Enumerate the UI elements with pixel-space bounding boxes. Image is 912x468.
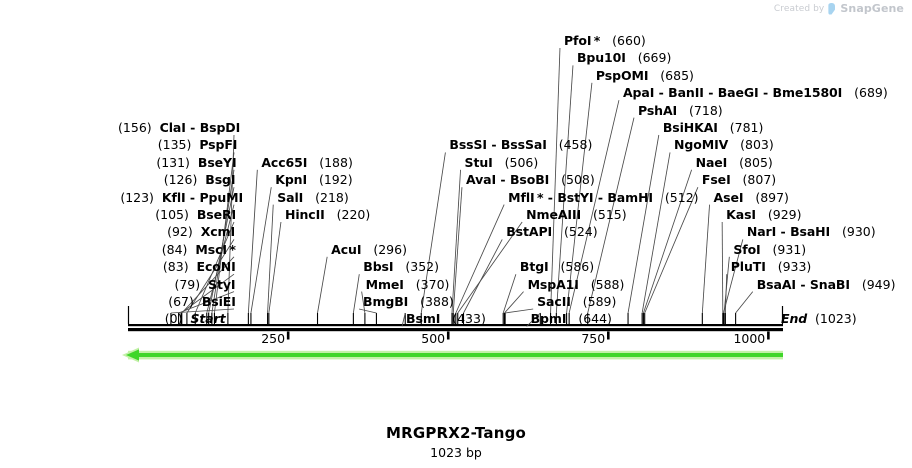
restriction-map: Created by SnapGene (156) ClaI - BspDI(1… [0,0,912,468]
enzyme-label: AcuI (296) [331,243,407,257]
enzyme-label: NaeI (805) [696,156,773,170]
enzyme-label: BstAPI (524) [506,225,597,239]
enzyme-label: Acc65I (188) [261,156,353,170]
ruler-tick-mark [607,332,610,340]
enzyme-label: BsmI (433) [406,312,486,326]
ruler-tick-mark [287,332,290,340]
enzyme-label: SalI (218) [277,191,349,205]
enzyme-label: BtgI (586) [520,260,594,274]
enzyme-label: BssSI - BssSaI (458) [449,138,592,152]
enzyme-label: (84) MscI * [162,243,236,257]
ruler-tick-mark [767,332,770,340]
enzyme-label: (79) StyI [174,278,235,292]
enzyme-label: PshAI (718) [638,104,723,118]
enzyme-label: NmeAIII (515) [526,208,626,222]
enzyme-label: (131) BseYI [156,156,236,170]
ruler-tick-label: 500 [421,331,445,346]
ruler-tick-label: 750 [581,331,605,346]
enzyme-label: BmgBI (388) [363,295,454,309]
enzyme-label: NarI - BsaHI (930) [747,225,876,239]
enzyme-label: StuI (506) [465,156,539,170]
enzyme-label: (123) KflI - PpuMI [120,191,243,205]
enzyme-label: PspOMI (685) [596,69,694,83]
enzyme-label: BsiHKAI (781) [663,121,764,135]
enzyme-label: HincII (220) [285,208,370,222]
enzyme-label: PluTI (933) [731,260,812,274]
enzyme-label: (83) EcoNI [163,260,236,274]
enzyme-label: (135) PspFI [158,138,238,152]
enzyme-label: KpnI (192) [275,173,352,187]
enzyme-label: (92) XcmI [167,225,235,239]
enzyme-label: MflI * - BstYI - BamHI (512) [508,191,698,205]
ruler-tick-label: 250 [261,331,285,346]
backbone-line-bottom [128,328,783,331]
enzyme-label: SfoI (931) [733,243,806,257]
enzyme-label: (105) BseRI [155,208,236,222]
enzyme-label: FseI (807) [702,173,776,187]
start-label: (0) Start [165,312,226,326]
ruler-tick-label: 1000 [733,331,765,346]
enzyme-label: (156) ClaI - BspDI [118,121,240,135]
enzyme-label: (126) BsgI [164,173,236,187]
ruler-tick-mark [447,332,450,340]
enzyme-label: ApaI - BanII - BaeGI - Bme1580I (689) [623,86,888,100]
enzyme-label: BbsI (352) [363,260,439,274]
enzyme-label: BsaAI - SnaBI (949) [757,278,896,292]
enzyme-label: (67) BsiEI [168,295,236,309]
enzyme-label: Bpu10I (669) [577,51,671,65]
enzyme-label: AvaI - BsoBI (508) [466,173,595,187]
enzyme-label: NgoMIV (803) [674,138,774,152]
page-title: MRGPRX2-Tango [0,424,912,442]
sequence-title-block: MRGPRX2-Tango 1023 bp [0,424,912,460]
enzyme-label: MmeI (370) [366,278,450,292]
sequence-length: 1023 bp [0,445,912,460]
enzyme-label-layer: (156) ClaI - BspDI(135) PspFI(131) BseYI… [0,0,912,320]
enzyme-label: BpmI (644) [531,312,612,326]
enzyme-label: PfoI * (660) [564,34,646,48]
enzyme-label: KasI (929) [726,208,801,222]
enzyme-label: AseI (897) [714,191,789,205]
end-label: End (1023) [781,312,857,326]
enzyme-label: SacII (589) [537,295,616,309]
enzyme-label: MspA1I (588) [528,278,625,292]
